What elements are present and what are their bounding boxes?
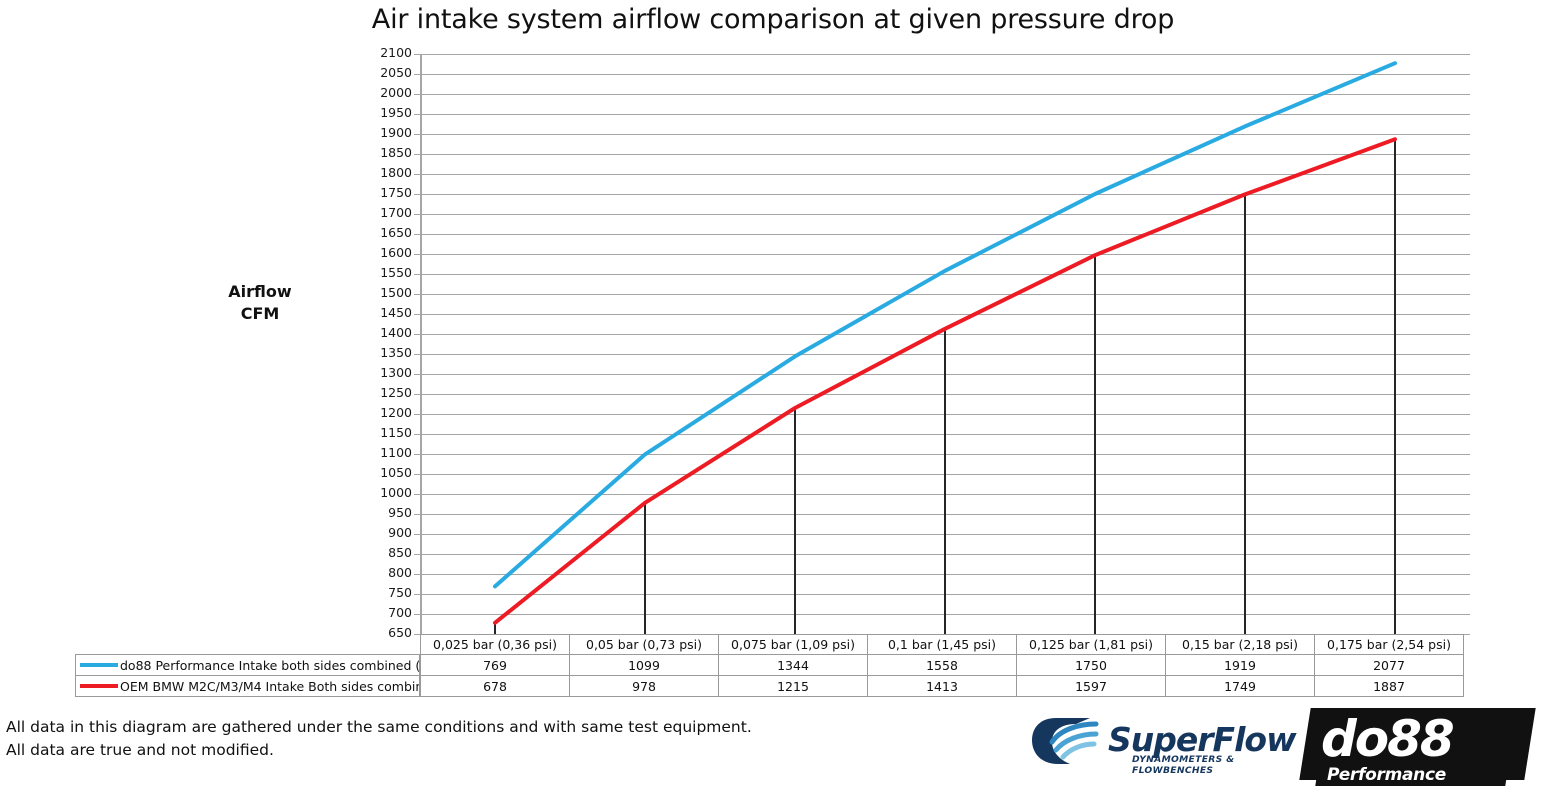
plot-area: 2100205020001950190018501800175017001650… [420, 54, 1470, 634]
y-axis-tick-label: 1900 [362, 127, 412, 140]
y-axis-tick-label: 1450 [362, 307, 412, 320]
y-axis-tick-label: 2000 [362, 87, 412, 100]
data-cell: 678 [420, 675, 570, 697]
y-axis-tick-label: 700 [362, 607, 412, 620]
footer-note: All data in this diagram are gathered un… [6, 716, 752, 763]
do88-logo: do88 Performance [1305, 708, 1530, 788]
do88-tagline: Performance [1327, 765, 1446, 785]
legend-label-do88: do88 Performance Intake both sides combi… [120, 658, 420, 673]
superflow-logo: SuperFlow DYNAMOMETERS & FLOWBENCHES [1030, 716, 1280, 774]
y-axis-tick-label: 800 [362, 567, 412, 580]
category-header-cell: 0,175 bar (2,54 psi) [1314, 634, 1464, 655]
data-cell: 1750 [1016, 654, 1166, 676]
y-axis-title: Airflow CFM [196, 281, 324, 324]
data-cell: 1887 [1314, 675, 1464, 697]
y-axis-tick-label: 850 [362, 547, 412, 560]
legend-label-oem: OEM BMW M2C/M3/M4 Intake Both sides comb… [120, 679, 420, 694]
y-axis-tick-label: 1300 [362, 367, 412, 380]
y-axis-tick-label: 1000 [362, 487, 412, 500]
legend-corner-spacer [75, 634, 420, 655]
y-axis-tick-label: 1600 [362, 247, 412, 260]
data-cell: 1099 [569, 654, 719, 676]
y-axis-title-line2: CFM [196, 303, 324, 325]
data-cell: 978 [569, 675, 719, 697]
y-axis-tick-label: 1950 [362, 107, 412, 120]
category-header-cell: 0,025 bar (0,36 psi) [420, 634, 570, 655]
y-axis-tick-label: 1050 [362, 467, 412, 480]
y-axis-tick-label: 1350 [362, 347, 412, 360]
legend-item-oem[interactable]: OEM BMW M2C/M3/M4 Intake Both sides comb… [75, 675, 420, 697]
table-header-row: 0,025 bar (0,36 psi)0,05 bar (0,73 psi)0… [75, 634, 1470, 655]
y-axis-tick-label: 1800 [362, 167, 412, 180]
data-cell: 1597 [1016, 675, 1166, 697]
y-axis-tick-label: 900 [362, 527, 412, 540]
data-cell: 769 [420, 654, 570, 676]
data-cell: 1344 [718, 654, 868, 676]
y-axis-tick-label: 1650 [362, 227, 412, 240]
y-axis-tick-label: 2100 [362, 47, 412, 60]
y-axis-tick-label: 1400 [362, 327, 412, 340]
superflow-tagline: DYNAMOMETERS & FLOWBENCHES [1132, 754, 1280, 776]
data-cell: 1749 [1165, 675, 1315, 697]
table-row: do88 Performance Intake both sides combi… [75, 655, 1470, 676]
legend-swatch-do88 [80, 663, 118, 667]
data-cell: 1413 [867, 675, 1017, 697]
y-axis-tick-label: 1150 [362, 427, 412, 440]
data-table: 0,025 bar (0,36 psi)0,05 bar (0,73 psi)0… [75, 634, 1470, 697]
superflow-mark-icon [1030, 716, 1104, 770]
y-axis-tick-label: 1250 [362, 387, 412, 400]
data-cell: 1215 [718, 675, 868, 697]
legend-item-do88[interactable]: do88 Performance Intake both sides combi… [75, 654, 420, 676]
footer-line-2: All data are true and not modified. [6, 739, 752, 762]
legend-swatch-oem [80, 684, 118, 688]
data-cell: 1919 [1165, 654, 1315, 676]
do88-wordmark: do88 [1321, 710, 1453, 768]
data-cell: 2077 [1314, 654, 1464, 676]
y-axis-tick-label: 950 [362, 507, 412, 520]
y-axis-tick-label: 1200 [362, 407, 412, 420]
y-axis-tick-label: 1100 [362, 447, 412, 460]
y-axis-title-line1: Airflow [196, 281, 324, 303]
footer-line-1: All data in this diagram are gathered un… [6, 716, 752, 739]
category-header-cell: 0,05 bar (0,73 psi) [569, 634, 719, 655]
y-axis-tick-label: 750 [362, 587, 412, 600]
category-header-cell: 0,15 bar (2,18 psi) [1165, 634, 1315, 655]
table-row: OEM BMW M2C/M3/M4 Intake Both sides comb… [75, 676, 1470, 697]
category-header-cell: 0,1 bar (1,45 psi) [867, 634, 1017, 655]
y-axis-tick-label: 1550 [362, 267, 412, 280]
data-cell: 1558 [867, 654, 1017, 676]
y-axis-tick-label: 1500 [362, 287, 412, 300]
series-lines [420, 54, 1470, 635]
chart-title: Air intake system airflow comparison at … [0, 4, 1546, 35]
series-line-1 [495, 139, 1395, 623]
y-axis-tick-label: 1850 [362, 147, 412, 160]
category-header-cell: 0,075 bar (1,09 psi) [718, 634, 868, 655]
y-axis-tick-label: 1700 [362, 207, 412, 220]
y-axis-tick-label: 1750 [362, 187, 412, 200]
category-header-cell: 0,125 bar (1,81 psi) [1016, 634, 1166, 655]
series-line-0 [495, 63, 1395, 586]
y-axis-tick-label: 2050 [362, 67, 412, 80]
